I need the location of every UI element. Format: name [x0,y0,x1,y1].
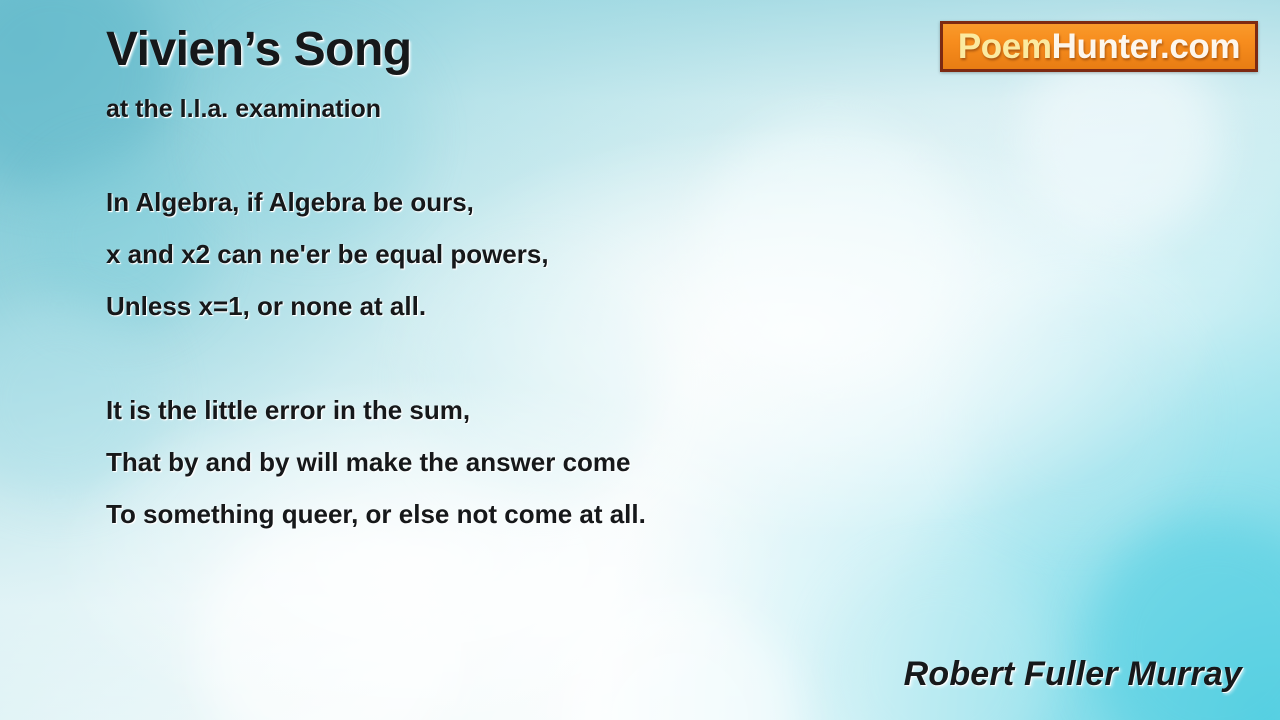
bokeh-circle [560,600,800,720]
poem-line: It is the little error in the sum, [106,384,926,436]
poem-stanza: It is the little error in the sum, That … [106,384,926,540]
poem-line: x and x2 can ne'er be equal powers, [106,228,926,280]
poem-body: In Algebra, if Algebra be ours, x and x2… [106,124,926,540]
logo-text-hunter: Hunter.com [1052,27,1241,66]
poem-line: Unless x=1, or none at all. [106,280,926,332]
bokeh-circle [960,300,1190,530]
logo-text-poem: Poem [958,27,1052,66]
poem-line: That by and by will make the answer come [106,436,926,488]
poem-text-column: Vivien’s Song at the l.l.a. examination … [106,0,926,592]
poem-stanza: In Algebra, if Algebra be ours, x and x2… [106,176,926,332]
poem-title: Vivien’s Song [106,0,926,74]
poem-card: Vivien’s Song at the l.l.a. examination … [0,0,1280,720]
poemhunter-logo-text: PoemHunter.com [958,29,1240,64]
poem-line: To something queer, or else not come at … [106,488,926,540]
poem-subtitle: at the l.l.a. examination [106,74,926,124]
poem-author: Robert Fuller Murray [904,655,1242,694]
poemhunter-logo[interactable]: PoemHunter.com [940,21,1258,72]
poem-line: In Algebra, if Algebra be ours, [106,176,926,228]
